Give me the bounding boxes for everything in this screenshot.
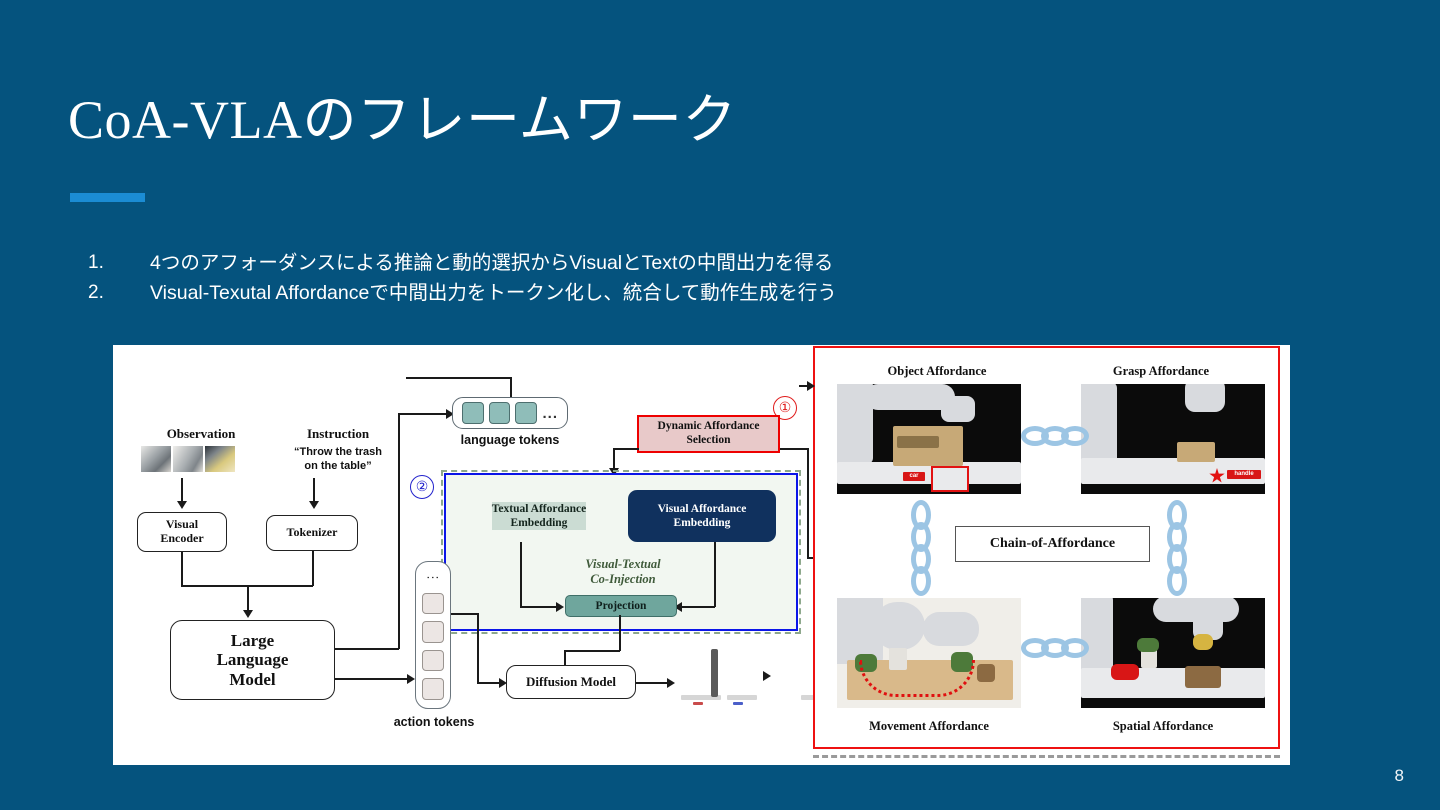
language-tokens-pill: ... xyxy=(452,397,568,429)
chain-link-icon xyxy=(911,566,931,596)
chain-link-icon xyxy=(1061,638,1089,658)
page-number: 8 xyxy=(1395,766,1404,786)
visual-embed-line2: Embedding xyxy=(674,517,731,529)
llm-line2: Language xyxy=(217,650,289,669)
chain-of-affordance-panel: Object Affordance Grasp Affordance Movem… xyxy=(813,346,1280,749)
visual-encoder-node: Visual Encoder xyxy=(137,512,227,552)
connector-line xyxy=(520,542,522,607)
connector-line xyxy=(335,678,410,680)
visual-embed-line1: Visual Affordance xyxy=(658,503,747,515)
movement-affordance-photo xyxy=(837,598,1021,708)
connector-line xyxy=(613,448,639,450)
textual-embed-line2: Embedding xyxy=(511,517,568,529)
language-token xyxy=(462,402,484,424)
bullet-number: 1. xyxy=(84,248,150,277)
arrow-icon xyxy=(309,501,319,509)
connector-line xyxy=(477,682,501,684)
observation-thumb xyxy=(141,446,171,472)
co-injection-title-line2: Co-Injection xyxy=(590,572,655,586)
co-injection-panel: Textual Affordance Embedding Visual Affo… xyxy=(444,473,798,631)
panel-dashed-underline xyxy=(813,755,1280,758)
projection-node: Projection xyxy=(565,595,677,617)
das-line2: Selection xyxy=(686,434,730,446)
grasp-affordance-photo: handle xyxy=(1081,384,1265,494)
slide: CoA-VLAのフレームワーク 1. 4つのアフォーダンスによる推論と動的選択か… xyxy=(0,0,1440,810)
instruction-label: Instruction xyxy=(263,427,413,442)
connector-line xyxy=(313,478,315,502)
bullet-text: Visual-Texutal Affordanceで中間出力をトークン化し、統合… xyxy=(150,278,1284,308)
connector-line xyxy=(619,615,621,651)
observation-label: Observation xyxy=(131,427,271,442)
grasp-affordance-label: Grasp Affordance xyxy=(1061,364,1261,379)
connector-line xyxy=(613,448,615,470)
arrow-icon xyxy=(667,678,675,688)
llm-line1: Large xyxy=(231,631,274,650)
arrow-icon xyxy=(243,610,253,618)
observation-thumb xyxy=(205,446,235,472)
robot-marker xyxy=(693,702,703,705)
observation-thumbnails xyxy=(141,446,235,472)
connector-line xyxy=(181,478,183,502)
action-tokens-vdots: ⋮ xyxy=(432,570,435,586)
object-affordance-photo: car xyxy=(837,384,1021,494)
dynamic-affordance-selection-box: Dynamic Affordance Selection xyxy=(637,415,780,453)
action-token xyxy=(422,678,444,700)
spatial-affordance-label: Spatial Affordance xyxy=(1063,719,1263,734)
co-injection-title-line1: Visual-Textual xyxy=(585,557,660,571)
connector-line xyxy=(181,552,183,586)
bullet-number: 2. xyxy=(84,278,150,307)
connector-line xyxy=(678,606,715,608)
object-affordance-tag: car xyxy=(903,472,925,481)
connector-line xyxy=(510,377,512,397)
connector-line xyxy=(780,448,809,450)
page-title: CoA-VLAのフレームワーク xyxy=(68,92,737,149)
connector-line xyxy=(807,448,809,558)
framework-figure: Observation Instruction “Throw the trash… xyxy=(113,345,1290,765)
language-token-ellipsis: ... xyxy=(543,405,559,422)
robot-arm xyxy=(711,649,718,697)
robot-marker xyxy=(733,702,743,705)
das-line1: Dynamic Affordance xyxy=(658,420,760,432)
list-item: 1. 4つのアフォーダンスによる推論と動的選択からVisualとTextの中間出… xyxy=(84,248,1284,278)
language-token xyxy=(489,402,511,424)
connector-line xyxy=(398,413,400,649)
arrow-icon xyxy=(556,602,564,612)
connector-line xyxy=(312,551,314,586)
list-item: 2. Visual-Texutal Affordanceで中間出力をトークン化し… xyxy=(84,278,1284,308)
object-highlight-box xyxy=(931,466,969,492)
connector-line xyxy=(451,613,479,615)
connector-line xyxy=(247,585,249,612)
chain-link-icon xyxy=(1061,426,1089,446)
connector-line xyxy=(477,613,479,683)
connector-line xyxy=(398,413,448,415)
connector-line xyxy=(564,650,620,652)
bullet-list: 1. 4つのアフォーダンスによる推論と動的選択からVisualとTextの中間出… xyxy=(84,248,1284,308)
action-token xyxy=(422,593,444,615)
object-affordance-label: Object Affordance xyxy=(837,364,1037,379)
observation-thumb xyxy=(173,446,203,472)
language-token xyxy=(515,402,537,424)
bullet-text: 4つのアフォーダンスによる推論と動的選択からVisualとTextの中間出力を得… xyxy=(150,248,1284,278)
action-tokens-column: ⋮ xyxy=(415,561,451,709)
visual-encoder-line2: Encoder xyxy=(160,531,203,545)
arrow-icon xyxy=(177,501,187,509)
language-tokens-label: language tokens xyxy=(442,433,578,447)
action-tokens-label: action tokens xyxy=(375,715,493,729)
arrow-icon xyxy=(763,671,771,681)
large-language-model-node: Large Language Model xyxy=(170,620,335,700)
textual-embed-line1: Textual Affordance xyxy=(492,503,586,515)
llm-line3: Model xyxy=(229,670,275,689)
robot-base xyxy=(727,695,757,700)
instruction-text-line2: on the table” xyxy=(263,460,413,473)
instruction-text-line1: “Throw the trash xyxy=(263,446,413,459)
connector-line xyxy=(335,648,399,650)
grasp-affordance-tag: handle xyxy=(1227,470,1261,479)
arrow-icon xyxy=(407,674,415,684)
connector-line xyxy=(636,682,669,684)
spatial-affordance-photo xyxy=(1081,598,1265,708)
diffusion-model-node: Diffusion Model xyxy=(506,665,636,699)
title-accent-bar xyxy=(70,193,145,202)
movement-affordance-label: Movement Affordance xyxy=(829,719,1029,734)
chain-link-icon xyxy=(1167,566,1187,596)
chain-of-affordance-label: Chain-of-Affordance xyxy=(955,526,1150,562)
marker-two: ② xyxy=(410,475,434,499)
connector-line xyxy=(406,377,511,379)
visual-encoder-line1: Visual xyxy=(166,517,198,531)
connector-line xyxy=(520,606,558,608)
connector-line xyxy=(714,542,716,607)
action-token xyxy=(422,650,444,672)
action-token xyxy=(422,621,444,643)
visual-affordance-embedding: Visual Affordance Embedding xyxy=(628,490,776,542)
connector-line xyxy=(799,385,811,387)
co-injection-title: Visual-Textual Co-Injection xyxy=(538,557,708,587)
robot-output-illustration xyxy=(679,645,799,710)
textual-affordance-embedding: Textual Affordance Embedding xyxy=(464,490,614,542)
tokenizer-node: Tokenizer xyxy=(266,515,358,551)
